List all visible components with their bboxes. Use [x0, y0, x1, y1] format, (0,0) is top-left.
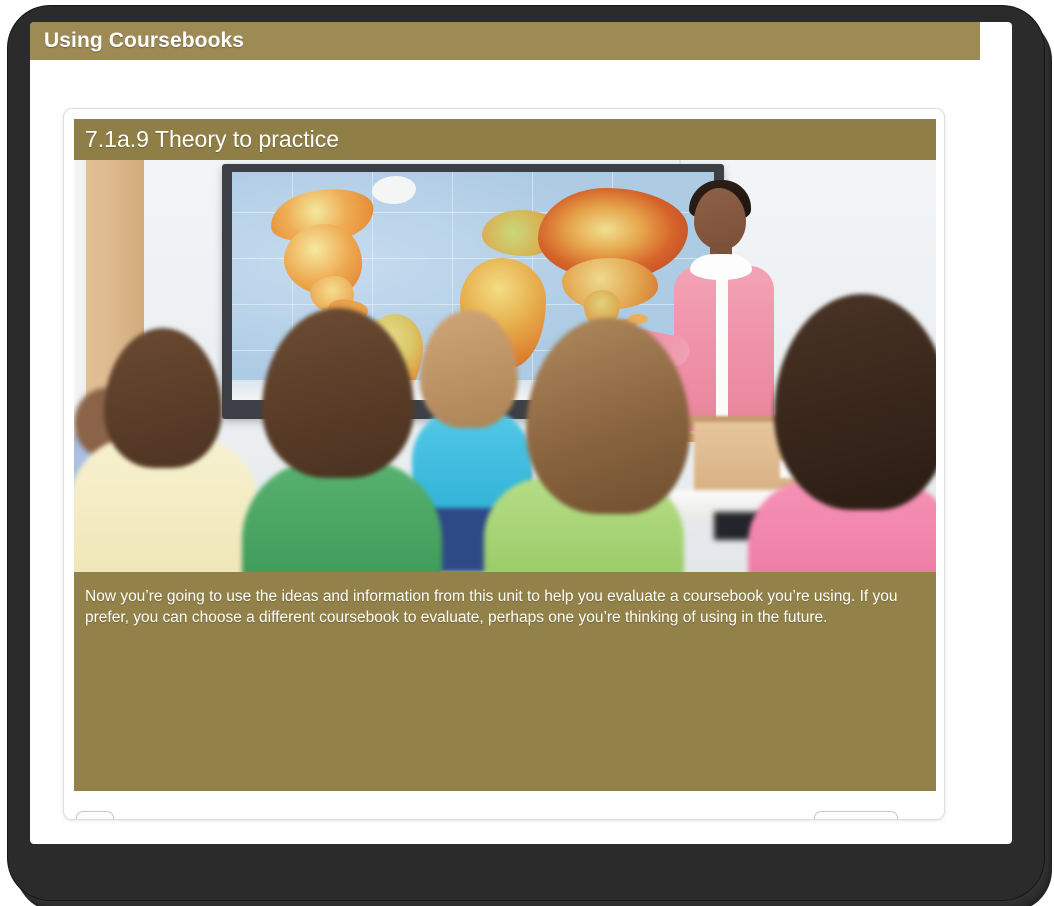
- screen-area: Using Coursebooks 7.1a.9 Theory to pract…: [30, 22, 1012, 844]
- teacher-collar: [690, 254, 752, 280]
- page-header: Using Coursebooks: [30, 22, 980, 60]
- slide-title: 7.1a.9 Theory to practice: [74, 126, 339, 153]
- device-bezel: Using Coursebooks 7.1a.9 Theory to pract…: [8, 6, 1044, 900]
- next-button[interactable]: [814, 811, 898, 820]
- slide-body-text: Now you’re going to use the ideas and in…: [74, 572, 936, 628]
- teacher-head: [694, 188, 746, 250]
- slide-card: 7.1a.9 Theory to practice: [63, 108, 945, 820]
- slide-title-bar: 7.1a.9 Theory to practice: [74, 119, 936, 160]
- slide-text-panel: Now you’re going to use the ideas and in…: [74, 572, 936, 791]
- page-title: Using Coursebooks: [30, 29, 244, 53]
- teacher-shirt: [716, 268, 728, 418]
- classroom-photo: [74, 160, 936, 572]
- audio-button[interactable]: [76, 811, 114, 820]
- slide-controls: [64, 803, 945, 820]
